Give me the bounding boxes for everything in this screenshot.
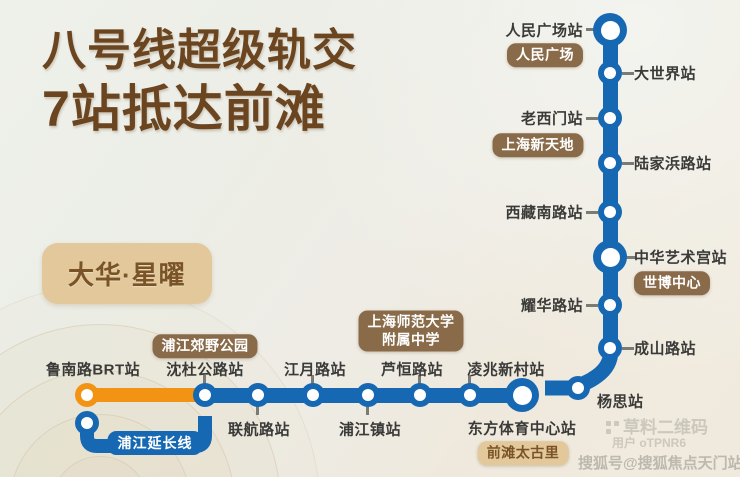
watermark-user: 用户 oTPNR6 [612, 434, 686, 451]
station-dot-dongfang-tiyu-zhongxin[interactable] [505, 378, 539, 412]
station-dot-laoximen[interactable] [598, 106, 622, 130]
station-dot-yaohua-lu[interactable] [598, 293, 622, 317]
station-label-lingzhao-xincun: 凌兆新村站 [467, 359, 545, 380]
station-label-jiangyue-lu: 江月路站 [284, 359, 346, 380]
tick-laoximen [586, 117, 598, 120]
poi-badge-qiantan-taikoo: 前滩太古里 [478, 441, 569, 465]
station-dot-renmin-guangchang[interactable] [593, 13, 627, 47]
station-label-chengshan-lu: 成山路站 [634, 338, 696, 359]
station-dot-xizang-nanlu[interactable] [598, 200, 622, 224]
station-dot-zhonghua-yishugong[interactable] [593, 240, 627, 274]
qr-code-icon [606, 421, 619, 434]
station-dot-lingzhao-xincun[interactable] [458, 383, 482, 407]
station-label-dashijie: 大世界站 [634, 63, 696, 84]
station-dot-jiangyue-lu[interactable] [301, 383, 325, 407]
watermark-sohu: 搜狐号@搜狐焦点天门站 [578, 452, 740, 473]
station-label-yangsi: 杨思站 [597, 391, 644, 412]
tick-chengshan-lu [622, 347, 634, 350]
station-label-luheng-lu: 芦恒路站 [381, 359, 443, 380]
poi-badge-pujiang-country-park: 浦江郊野公园 [153, 334, 258, 358]
station-label-shendu-gonglu: 沈杜公路站 [166, 359, 244, 380]
tick-yaohua-lu [586, 304, 598, 307]
station-dot-branch-terminus[interactable] [75, 411, 99, 435]
station-label-pujiang-zhen: 浦江镇站 [339, 419, 401, 440]
station-dot-luheng-lu[interactable] [408, 383, 432, 407]
station-dot-lianhang-lu[interactable] [246, 383, 270, 407]
station-dot-dashijie[interactable] [598, 61, 622, 85]
branch-line-label: 浦江延长线 [108, 431, 203, 455]
station-label-lianhang-lu: 联航路站 [228, 419, 290, 440]
headline-block: 八号线超级轨交 7站抵达前滩 [42, 28, 357, 136]
poi-shnu-line-1: 上海师范大学 [368, 314, 455, 332]
station-label-zhonghua-yishugong: 中华艺术宫站 [634, 247, 727, 268]
poi-badge-xintiandi: 上海新天地 [493, 133, 584, 157]
station-dot-lunan-lu-brt[interactable] [75, 383, 99, 407]
station-dot-lujiabang-lu[interactable] [598, 151, 622, 175]
tick-lujiabang-lu [622, 162, 634, 165]
station-label-xizang-nanlu: 西藏南路站 [505, 202, 583, 223]
station-dot-chengshan-lu[interactable] [598, 336, 622, 360]
poi-badge-expo-center: 世博中心 [634, 271, 710, 295]
station-dot-yangsi[interactable] [566, 376, 590, 400]
station-label-lunan-lu-brt: 鲁南路BRT站 [46, 359, 140, 380]
station-label-renmin-guangchang: 人民广场站 [505, 20, 583, 41]
poi-badge-renmin-guangchang: 人民广场 [507, 43, 583, 67]
headline-line-1: 八号线超级轨交 [42, 28, 357, 75]
station-dot-pujiang-zhen[interactable] [356, 383, 380, 407]
tick-xizang-nanlu [586, 211, 598, 214]
poi-shnu-line-2: 附属中学 [368, 331, 455, 349]
headline-line-2: 7站抵达前滩 [42, 83, 357, 136]
infographic-canvas: 八号线超级轨交 7站抵达前滩 大华·星曜 浦江延长线 人民广场站 人民广场 大世… [0, 0, 740, 477]
tick-dashijie [622, 72, 634, 75]
station-dot-shendu-gonglu[interactable] [193, 383, 217, 407]
station-label-dongfang-tiyu-zhongxin: 东方体育中心站 [468, 418, 577, 439]
project-name-badge: 大华·星曜 [42, 243, 212, 304]
station-label-yaohua-lu: 耀华路站 [521, 295, 583, 316]
brt-orange-segment [87, 388, 205, 402]
poi-badge-shnu-affiliated: 上海师范大学 附属中学 [359, 311, 464, 352]
station-label-lujiabang-lu: 陆家浜路站 [634, 153, 712, 174]
project-name-label: 大华·星曜 [68, 260, 186, 290]
station-label-laoximen: 老西门站 [521, 108, 583, 129]
